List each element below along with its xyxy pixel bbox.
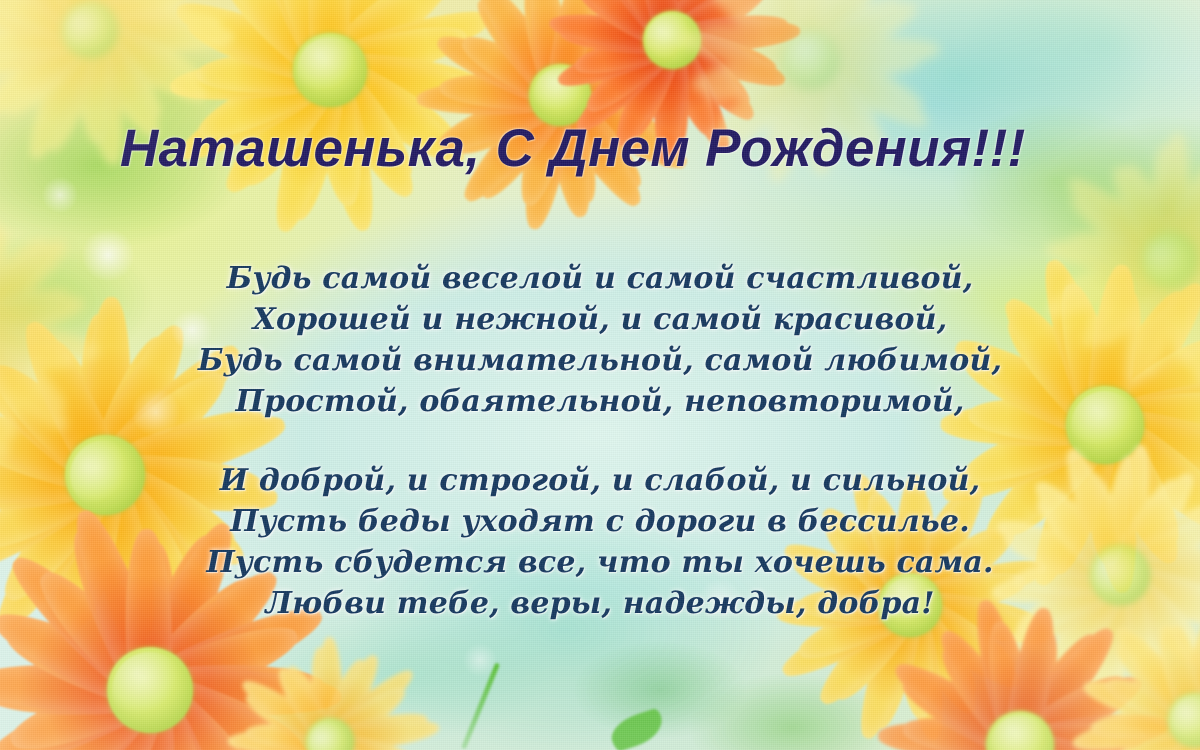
poem-line: Пусть сбудется все, что ты хочешь сама. [0, 542, 1200, 583]
poem-line: Пусть беды уходят с дороги в бессилье. [0, 501, 1200, 542]
poem-line: Любви тебе, веры, надежды, добра! [0, 583, 1200, 624]
page-title: Наташенька, С Днем Рождения!!! [120, 118, 1026, 179]
poem-stanza: Будь самой веселой и самой счастливой,Хо… [0, 258, 1200, 422]
stanza-gap [0, 422, 1200, 460]
poem-line: Будь самой внимательной, самой любимой, [0, 340, 1200, 381]
poem-text: Будь самой веселой и самой счастливой,Хо… [0, 258, 1200, 624]
poem-line: Хорошей и нежной, и самой красивой, [0, 299, 1200, 340]
poem-line: Будь самой веселой и самой счастливой, [0, 258, 1200, 299]
poem-line: И доброй, и строгой, и слабой, и сильной… [0, 460, 1200, 501]
poem-stanza: И доброй, и строгой, и слабой, и сильной… [0, 460, 1200, 624]
greeting-card: Наташенька, С Днем Рождения!!! Будь само… [0, 0, 1200, 750]
poem-line: Простой, обаятельной, неповторимой, [0, 381, 1200, 422]
